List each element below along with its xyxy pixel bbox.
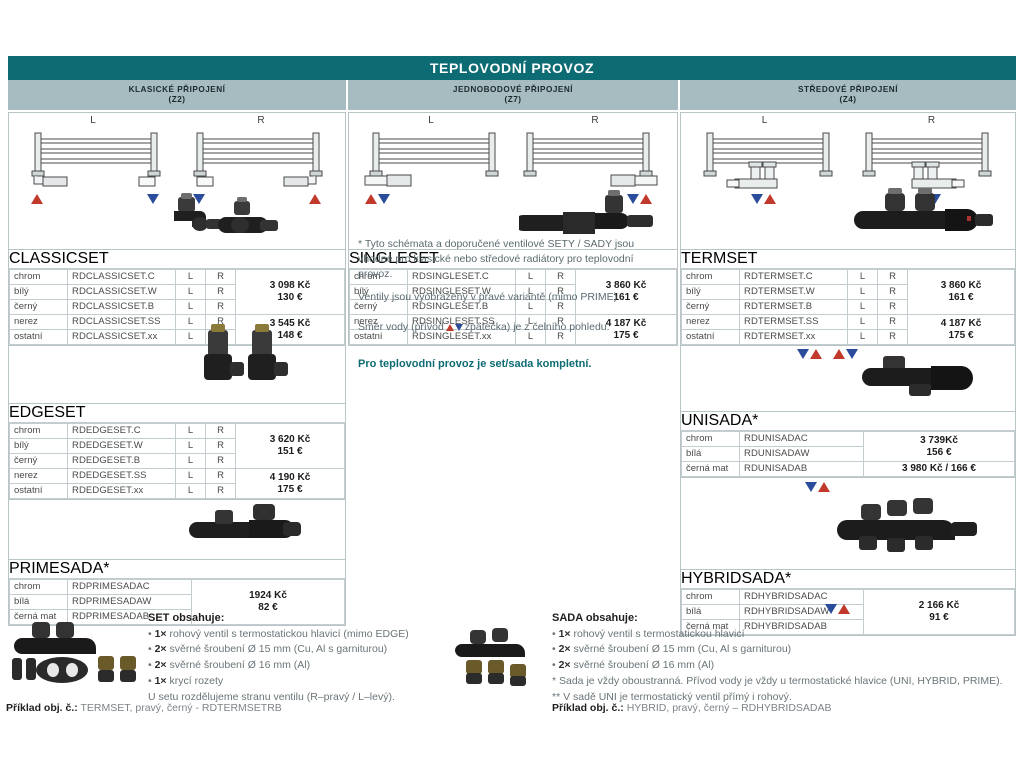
schematic-classic-left: L (9, 113, 177, 235)
columns-container: L (8, 112, 1016, 602)
row-right: R (878, 285, 908, 300)
block-termset: L (680, 112, 1016, 250)
row-code: RDHYBRIDSADAC (740, 590, 864, 605)
legend-item-text: svěrné šroubení Ø 15 mm (Cu, Al s garnit… (574, 643, 792, 655)
price-cell: 3 098 Kč 130 € (236, 270, 345, 315)
price-eur: 130 € (240, 292, 340, 304)
row-left: L (176, 439, 206, 454)
supply-arrow-icon (818, 482, 830, 492)
price-cell: 3 739Kč 156 € (864, 432, 1015, 462)
row-code: RDCLASSICSET.SS (68, 315, 176, 330)
row-code: RDUNISADAB (740, 462, 864, 477)
diagram-label-right: R (177, 115, 345, 126)
price-czk: 4 187 Kč (912, 318, 1010, 330)
block-singleset: L (348, 112, 678, 250)
row-color: černý (682, 300, 740, 315)
row-color: bílý (10, 285, 68, 300)
row-left: L (848, 330, 878, 345)
radiator-drawing (695, 129, 845, 189)
column-header-code: (Z7) (504, 95, 521, 105)
row-right: R (878, 270, 908, 285)
price-table: chrom RDTERMSET.C L R 3 860 Kč 161 € bíl… (681, 269, 1015, 345)
row-color: ostatní (682, 330, 740, 345)
row-color: černý (10, 300, 68, 315)
row-right: R (206, 300, 236, 315)
row-color: černá mat (682, 462, 740, 477)
supply-arrow-icon (31, 194, 43, 204)
row-code: RDPRIMESADAW (68, 595, 192, 610)
row-right: R (206, 285, 236, 300)
row-color: bílý (10, 439, 68, 454)
row-color: ostatní (10, 330, 68, 345)
price-table: chrom RDUNISADAC 3 739Kč 156 € bílá RDUN… (681, 431, 1015, 477)
notes-line2: Ventily jsou vyobrazeny v pravé variantě… (358, 290, 670, 305)
kit-photo-sada (452, 626, 544, 693)
legend-title: SADA obsahuje: (552, 610, 1022, 627)
page-title: TEPLOVODNÍ PROVOZ (8, 56, 1016, 80)
legend-item-qty: 2× (559, 659, 571, 671)
row-code: RDUNISADAC (740, 432, 864, 447)
column-header-band: KLASICKÉ PŘIPOJENÍ (Z2) JEDNOBODOVÉ PŘIP… (8, 80, 1016, 110)
return-arrow-icon (378, 194, 390, 204)
example-order-right: Příklad obj. č.: HYBRID, pravý, černý – … (552, 702, 832, 714)
notes-line4: Pro teplovodní provoz je set/sada komple… (358, 357, 670, 373)
legend-item-text: svěrné šroubení Ø 16 mm (Al) (170, 659, 311, 671)
column-classic: L (8, 112, 346, 602)
legend-item-text: svěrné šroubení Ø 16 mm (Al) (574, 659, 715, 671)
example-label: Příklad obj. č.: (6, 702, 78, 714)
table-edgeset: EDGESET chrom RDEDGESET.C L R 3 620 Kč 1… (8, 404, 346, 500)
price-czk: 4 190 Kč (240, 472, 340, 484)
row-color: chrom (682, 590, 740, 605)
table-title: CLASSICSET (9, 250, 345, 269)
price-eur: 156 € (868, 447, 1010, 459)
row-color: bílá (10, 595, 68, 610)
row-left: L (848, 285, 878, 300)
column-header-name: KLASICKÉ PŘIPOJENÍ (129, 85, 226, 95)
diagram-label-right: R (848, 115, 1015, 126)
row-color: černý (10, 454, 68, 469)
notes-line3: Směr vody (přívodzpátečka) je z čelního … (358, 320, 670, 335)
column-single: L (348, 112, 678, 602)
table-unisada: UNISADA* chrom RDUNISADAC 3 739Kč 156 € … (680, 412, 1016, 478)
legend-item-text: rohový ventil s termostatickou hlavicí (574, 628, 745, 640)
column-header-classic: KLASICKÉ PŘIPOJENÍ (Z2) (8, 80, 346, 110)
table-title: UNISADA* (681, 412, 1015, 431)
legend-item-qty: 2× (155, 643, 167, 655)
return-arrow-icon (805, 482, 817, 492)
return-arrow-icon (147, 194, 159, 204)
supply-arrow-icon (833, 349, 845, 359)
row-right: R (206, 454, 236, 469)
table-title: TERMSET (681, 250, 1015, 269)
radiator-drawing (515, 129, 665, 189)
block-classicset: L (8, 112, 346, 250)
row-right: R (878, 315, 908, 330)
row-color: chrom (10, 580, 68, 595)
row-code: RDEDGESET.xx (68, 484, 176, 499)
row-color: chrom (10, 270, 68, 285)
product-photo-unisada (853, 352, 993, 413)
row-code: RDCLASSICSET.B (68, 300, 176, 315)
row-code: RDCLASSICSET.W (68, 285, 176, 300)
table-row: chrom RDTERMSET.C L R 3 860 Kč 161 € (682, 270, 1015, 285)
price-cell: 3 620 Kč 151 € (236, 424, 345, 469)
return-arrow-icon (751, 194, 763, 204)
column-header-single: JEDNOBODOVÉ PŘIPOJENÍ (Z7) (348, 80, 678, 110)
row-color: bílý (682, 285, 740, 300)
row-code: RDEDGESET.SS (68, 469, 176, 484)
legend-item-qty: 2× (559, 643, 571, 655)
example-label: Příklad obj. č.: (552, 702, 624, 714)
row-code: RDUNISADAW (740, 447, 864, 462)
return-arrow-icon (797, 349, 809, 359)
column-header-code: (Z2) (168, 95, 185, 105)
legend-note1: * Sada je vždy oboustranná. Přívod vody … (552, 674, 1022, 690)
column-header-center: STŘEDOVÉ PŘIPOJENÍ (Z4) (680, 80, 1016, 110)
price-czk: 1924 Kč (196, 590, 340, 602)
product-photo-termset (849, 185, 999, 252)
table-row: chrom RDEDGESET.C L R 3 620 Kč 151 € (10, 424, 345, 439)
row-right: R (878, 330, 908, 345)
radiator-drawing (185, 129, 335, 189)
legend-item: • 1× rohový ventil s termostatickou hlav… (552, 627, 1022, 643)
schematic-center-left: L (681, 113, 848, 235)
table-title: PRIMESADA* (9, 560, 345, 579)
legend-item-qty: 2× (155, 659, 167, 671)
table-row: černá mat RDUNISADAB 3 980 Kč / 166 € (682, 462, 1015, 477)
legend-item-qty: 1× (155, 675, 167, 687)
diagram-label-right: R (513, 115, 677, 126)
table-row: chrom RDUNISADAC 3 739Kč 156 € (682, 432, 1015, 447)
price-cell: 4 187 Kč 175 € (908, 315, 1015, 345)
column-center: L (680, 112, 1016, 602)
row-left: L (176, 270, 206, 285)
legend-title: SET obsahuje: (148, 610, 548, 627)
row-left: L (176, 300, 206, 315)
block-unisada-photo (680, 346, 1016, 412)
column-header-code: (Z4) (839, 95, 856, 105)
row-left: L (848, 270, 878, 285)
row-code: RDTERMSET.C (740, 270, 848, 285)
block-hybridsada-photo (680, 478, 1016, 570)
row-code: RDPRIMESADAC (68, 580, 192, 595)
column-header-name: STŘEDOVÉ PŘIPOJENÍ (798, 85, 898, 95)
row-left: L (176, 424, 206, 439)
radiator-drawing (23, 129, 173, 189)
legend-item-text: svěrné šroubení Ø 15 mm (Cu, Al s garnit… (170, 643, 388, 655)
table-termset: TERMSET chrom RDTERMSET.C L R 3 860 Kč 1… (680, 250, 1016, 346)
price-czk: 3 098 Kč (240, 280, 340, 292)
product-photo-classicset (164, 193, 284, 254)
diagram-label-left: L (681, 115, 848, 126)
price-cell: 3 860 Kč 161 € (908, 270, 1015, 315)
supply-arrow-icon (764, 194, 776, 204)
product-photo-edgeset (184, 318, 304, 403)
diagram-label-left: L (349, 115, 513, 126)
row-left: L (176, 454, 206, 469)
legend-item-text: rohový ventil s termostatickou hlavicí (… (170, 628, 409, 640)
row-code: RDTERMSET.xx (740, 330, 848, 345)
row-right: R (206, 424, 236, 439)
table-row: nerez RDEDGESET.SS L R 4 190 Kč 175 € (10, 469, 345, 484)
product-photo-hybridsada (837, 492, 997, 571)
row-code: RDEDGESET.C (68, 424, 176, 439)
notes-line1: * Tyto schémata a doporučené ventilové S… (358, 237, 670, 283)
row-color: ostatní (10, 484, 68, 499)
row-color: chrom (682, 432, 740, 447)
row-left: L (848, 300, 878, 315)
row-right: R (206, 270, 236, 285)
table-row: chrom RDPRIMESADAC 1924 Kč 82 € (10, 580, 345, 595)
row-color: nerez (682, 315, 740, 330)
price-czk: 3 860 Kč (912, 280, 1010, 292)
diagram-label-left: L (9, 115, 177, 126)
legend-sada: SADA obsahuje: • 1× rohový ventil s term… (552, 610, 1022, 705)
block-edgeset-photo (8, 346, 346, 404)
row-left: L (848, 315, 878, 330)
block-primesada-photo (8, 500, 346, 560)
row-color: nerez (10, 469, 68, 484)
table-row: chrom RDCLASSICSET.C L R 3 098 Kč 130 € (10, 270, 345, 285)
row-color: chrom (682, 270, 740, 285)
price-czk: 3 739Kč (868, 435, 1010, 447)
notes-line3-pre: Směr vody (přívod (358, 321, 444, 333)
row-color: bílá (682, 447, 740, 462)
table-row: chrom RDHYBRIDSADAC 2 166 Kč 91 € (682, 590, 1015, 605)
catalog-page: TEPLOVODNÍ PROVOZ KLASICKÉ PŘIPOJENÍ (Z2… (0, 0, 1024, 768)
table-title: HYBRIDSADA* (681, 570, 1015, 589)
row-code: RDCLASSICSET.C (68, 270, 176, 285)
example-text: TERMSET, pravý, černý - RDTERMSETRB (81, 702, 282, 714)
price-cell-combined: 3 980 Kč / 166 € (864, 462, 1015, 477)
table-row: nerez RDTERMSET.SS L R 4 187 Kč 175 € (682, 315, 1015, 330)
row-code: RDCLASSICSET.xx (68, 330, 176, 345)
row-left: L (176, 285, 206, 300)
price-czk: 3 620 Kč (240, 434, 340, 446)
legend-item-qty: 1× (155, 628, 167, 640)
price-eur: 151 € (240, 446, 340, 458)
supply-arrow-icon (365, 194, 377, 204)
schematic-single-left: L (349, 113, 513, 235)
flow-arrows-icon (446, 324, 463, 331)
row-right: R (878, 300, 908, 315)
radiator-drawing (854, 129, 1004, 189)
legend-item-text: krycí rozety (170, 675, 224, 687)
supply-arrow-icon (810, 349, 822, 359)
row-color: nerez (10, 315, 68, 330)
row-code: RDEDGESET.B (68, 454, 176, 469)
row-code: RDTERMSET.W (740, 285, 848, 300)
row-code: RDTERMSET.SS (740, 315, 848, 330)
table-title: EDGESET (9, 404, 345, 423)
radiator-drawing (361, 129, 511, 189)
supply-arrow-icon (309, 194, 321, 204)
product-photo-primesada (179, 488, 309, 563)
row-right: R (206, 439, 236, 454)
price-eur: 175 € (912, 330, 1010, 342)
column-header-name: JEDNOBODOVÉ PŘIPOJENÍ (453, 85, 573, 95)
example-text: HYBRID, pravý, černý – RDHYBRIDSADAB (627, 702, 832, 714)
row-right: R (206, 469, 236, 484)
notes-line3-post: zpátečka) je z čelního pohledu. (465, 321, 610, 333)
row-color: chrom (10, 424, 68, 439)
legend-item: • 2× svěrné šroubení Ø 15 mm (Cu, Al s g… (552, 642, 1022, 658)
row-code: RDTERMSET.B (740, 300, 848, 315)
kit-photo-set (6, 612, 142, 695)
example-order-left: Příklad obj. č.: TERMSET, pravý, černý -… (6, 702, 282, 714)
price-eur: 161 € (912, 292, 1010, 304)
legend-item-qty: 1× (559, 628, 571, 640)
row-code: RDEDGESET.W (68, 439, 176, 454)
row-left: L (176, 469, 206, 484)
legend-item: • 2× svěrné šroubení Ø 16 mm (Al) (552, 658, 1022, 674)
